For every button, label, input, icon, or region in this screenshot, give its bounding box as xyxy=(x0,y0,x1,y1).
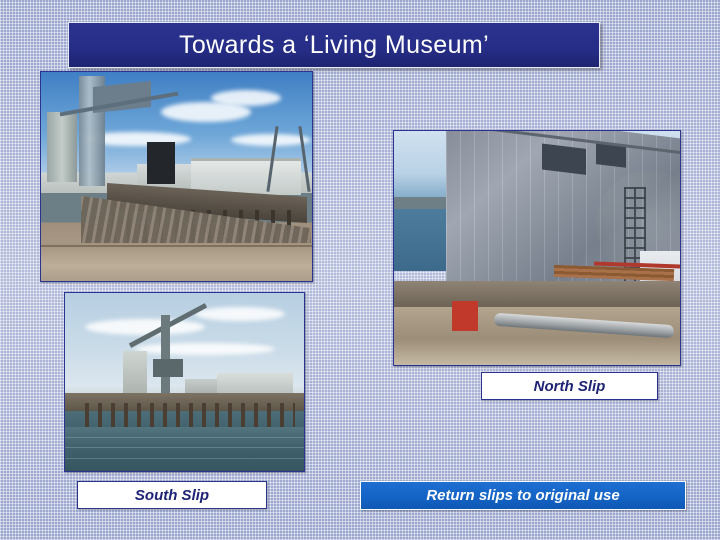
banner-return-slips-label: Return slips to original use xyxy=(426,487,619,504)
red-container-shape xyxy=(452,301,478,331)
caption-south-slip-label: South Slip xyxy=(135,487,209,504)
cloud-shape xyxy=(85,319,205,335)
water-ripple xyxy=(65,458,304,459)
north-slip-photo-art xyxy=(394,131,680,365)
water-ripple xyxy=(65,437,304,438)
wharf-edge-shape xyxy=(394,281,680,309)
slipway-crane-photo-art xyxy=(41,72,312,281)
crane-mast-shape xyxy=(161,315,170,393)
shed-window-shape xyxy=(542,143,586,174)
north-slip-photo xyxy=(393,130,681,366)
slipway-crane-photo xyxy=(40,71,313,282)
page-title: Towards a ‘Living Museum’ xyxy=(179,31,489,60)
water-shape xyxy=(65,427,304,471)
caption-north-slip-label: North Slip xyxy=(534,378,606,395)
apron-edge-line xyxy=(41,245,312,247)
dark-structure-shape xyxy=(147,142,175,184)
caption-north-slip: North Slip xyxy=(481,372,658,400)
slide-canvas: Towards a ‘Living Museum’ xyxy=(0,0,720,540)
south-slip-photo-art xyxy=(65,293,304,471)
slide-title-box: Towards a ‘Living Museum’ xyxy=(68,22,600,68)
south-slip-photo xyxy=(64,292,305,472)
caption-south-slip: South Slip xyxy=(77,481,267,509)
cloud-shape xyxy=(211,90,281,106)
banner-return-slips: Return slips to original use xyxy=(360,481,686,510)
concrete-apron-shape xyxy=(41,243,312,281)
cloud-shape xyxy=(135,343,275,355)
cloud-shape xyxy=(195,307,285,321)
timber-piles-shape xyxy=(85,403,295,427)
water-ripple xyxy=(65,447,304,448)
crane-cab-shape xyxy=(153,359,183,377)
silo-shape xyxy=(47,112,77,182)
